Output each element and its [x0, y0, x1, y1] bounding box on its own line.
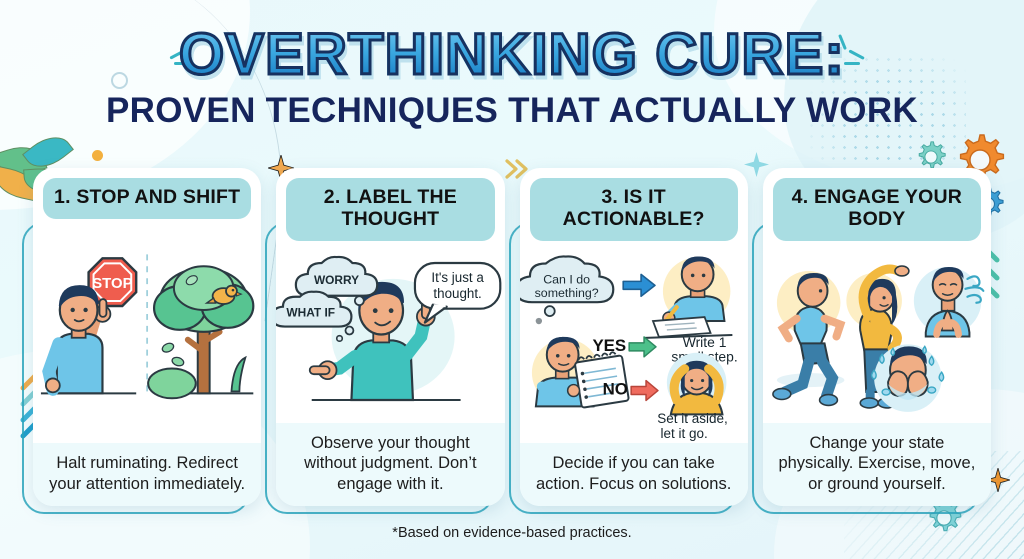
thought-bubble-worry: WORRY	[296, 257, 377, 296]
card-4-footer: Change your state physically. Exercise, …	[763, 423, 991, 506]
speech-bubble-its-just-a-thought: It's just a thought.	[415, 263, 500, 323]
no-result-caption: Set it aside, let it go.	[520, 411, 742, 441]
yes-result-line1: Write 1	[682, 334, 726, 350]
svg-text:something?: something?	[534, 286, 598, 300]
label-the-thought-artwork: WORRY WHAT IF	[276, 241, 504, 423]
card-1-header: 1. STOP AND SHIFT	[43, 178, 251, 219]
svg-text:WORRY: WORRY	[314, 273, 359, 287]
card-3-header: 3. IS IT ACTIONABLE?	[530, 178, 738, 241]
card-1-illustration: STOP	[33, 219, 261, 444]
orange-dot-icon	[92, 150, 103, 161]
svg-text:WHAT IF: WHAT IF	[287, 305, 336, 319]
svg-text:STOP: STOP	[92, 276, 132, 292]
card-4-heading-text: 4. ENGAGE YOUR BODY	[779, 187, 975, 231]
card-4-illustration	[763, 241, 991, 423]
no-result-line2: let it go.	[520, 426, 742, 441]
man-writing-figure	[645, 256, 732, 337]
card-1-caption: Halt ruminating. Redirect your attention…	[41, 453, 253, 495]
tree-illustration	[148, 266, 253, 398]
card-3-caption: Decide if you can take action. Focus on …	[528, 453, 740, 495]
card-4-caption: Change your state physically. Exercise, …	[771, 433, 983, 495]
card-2-heading-text: 2. LABEL THE THOUGHT	[292, 187, 488, 231]
card-2-header: 2. LABEL THE THOUGHT	[286, 178, 494, 241]
card-4-header: 4. ENGAGE YOUR BODY	[773, 178, 981, 241]
thought-bubble-what-if: WHAT IF	[276, 291, 351, 326]
no-label: NO	[602, 379, 627, 398]
card-2-footer: Observe your thought without judgment. D…	[276, 423, 504, 506]
green-arrow-icon	[629, 337, 656, 357]
page-subtitle: PROVEN TECHNIQUES THAT ACTUALLY WORK	[0, 93, 1024, 128]
card-2-caption: Observe your thought without judgment. D…	[284, 433, 496, 495]
card-1-heading-text: 1. STOP AND SHIFT	[49, 187, 245, 209]
card-2[interactable]: 2. LABEL THE THOUGHT	[276, 168, 504, 506]
card-3-footer: Decide if you can take action. Focus on …	[520, 443, 748, 506]
svg-text:thought.: thought.	[434, 285, 482, 300]
yes-label: YES	[592, 335, 626, 354]
woman-relaxing-figure	[666, 352, 726, 414]
cards-row: 1. STOP AND SHIFT STOP	[33, 168, 991, 506]
man-breathing-figure	[914, 267, 983, 336]
infographic-canvas: OVERTHINKING CURE: PROVEN TECHNIQUES THA…	[0, 0, 1024, 559]
card-1[interactable]: 1. STOP AND SHIFT STOP	[33, 168, 261, 506]
card-3-illustration: Can I do something?	[520, 241, 748, 444]
red-arrow-icon	[631, 380, 658, 400]
man-running-figure	[773, 271, 844, 405]
no-result-line1: Set it aside,	[520, 411, 742, 426]
man-pointing-up-figure	[46, 286, 111, 393]
svg-text:It's just a: It's just a	[432, 270, 485, 285]
engage-your-body-artwork	[763, 241, 991, 423]
card-4[interactable]: 4. ENGAGE YOUR BODY	[763, 168, 991, 506]
card-3[interactable]: 3. IS IT ACTIONABLE? Can I do something?	[520, 168, 748, 506]
thought-bubble-can-i-do-something: Can I do something?	[520, 256, 613, 302]
svg-text:Can I do: Can I do	[543, 272, 590, 286]
card-1-footer: Halt ruminating. Redirect your attention…	[33, 443, 261, 506]
card-2-illustration: WORRY WHAT IF	[276, 241, 504, 423]
page-title: OVERTHINKING CURE:	[179, 26, 845, 84]
blue-arrow-icon	[623, 274, 655, 296]
footnote: *Based on evidence-based practices.	[0, 525, 1024, 541]
stop-and-shift-artwork: STOP	[33, 219, 261, 444]
header: OVERTHINKING CURE: PROVEN TECHNIQUES THA…	[0, 26, 1024, 128]
card-3-heading-text: 3. IS IT ACTIONABLE?	[536, 187, 732, 231]
